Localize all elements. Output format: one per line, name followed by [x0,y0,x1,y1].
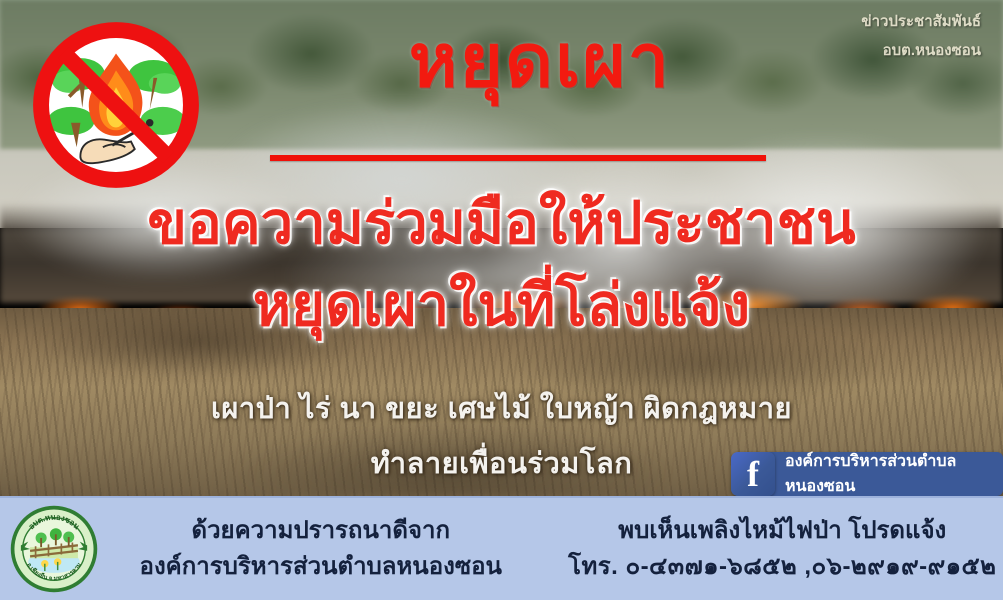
footer-left-text: ด้วยความปรารถนาดีจาก องค์การบริหารส่วนตำ… [100,513,562,585]
no-burning-icon [22,16,210,194]
page-title-headline: หยุดเผา [330,22,750,100]
kicker-text: ข่าวประชาสัมพันธ์ อบต.หนองซอน [861,8,981,65]
footer-phone-numbers: โทร. ๐-๔๓๗๑-๖๘๕๒ ,๐๖-๒๙๑๙-๙๑๕๒ [562,549,1003,585]
footer-left-line-2: องค์การบริหารส่วนตำบลหนองซอน [100,549,542,585]
facebook-icon[interactable]: f [731,452,775,496]
footer-right-text: พบเห็นเพลิงไหม้ไฟป่า โปรดแจ้ง โทร. ๐-๔๓๗… [562,513,1003,585]
kicker-line-1: ข่าวประชาสัมพันธ์ [861,8,981,37]
subheadline-line-1: ขอความร่วมมือให้ประชาชน [0,192,1003,256]
fire-prevention-poster: ข่าวประชาสัมพันธ์ อบต.หนองซอน [0,0,1003,600]
red-divider-line [270,155,766,161]
note-line-1: เผาป่า ไร่ นา ขยะ เศษไม้ ใบหญ้า ผิดกฎหมา… [0,385,1003,431]
facebook-page-name[interactable]: องค์การบริหารส่วนตำบลหนองซอน [769,452,1003,496]
organization-emblem-logo: อบต.หนองซอน อ.เชียงยืน จ.มหาสารคาม [8,503,100,595]
footer-right-line-1: พบเห็นเพลิงไหม้ไฟป่า โปรดแจ้ง [562,513,1003,549]
subheadline-line-2: หยุดเผาในที่โล่งแจ้ง [0,274,1003,338]
footer-left-line-1: ด้วยความปรารถนาดีจาก [100,513,542,549]
kicker-line-2: อบต.หนองซอน [861,37,981,66]
facebook-glyph: f [731,456,775,492]
facebook-badge[interactable]: f องค์การบริหารส่วนตำบลหนองซอน [731,452,1003,496]
footer-bar: อบต.หนองซอน อ.เชียงยืน จ.มหาสารคาม ด้วยค… [0,496,1003,600]
